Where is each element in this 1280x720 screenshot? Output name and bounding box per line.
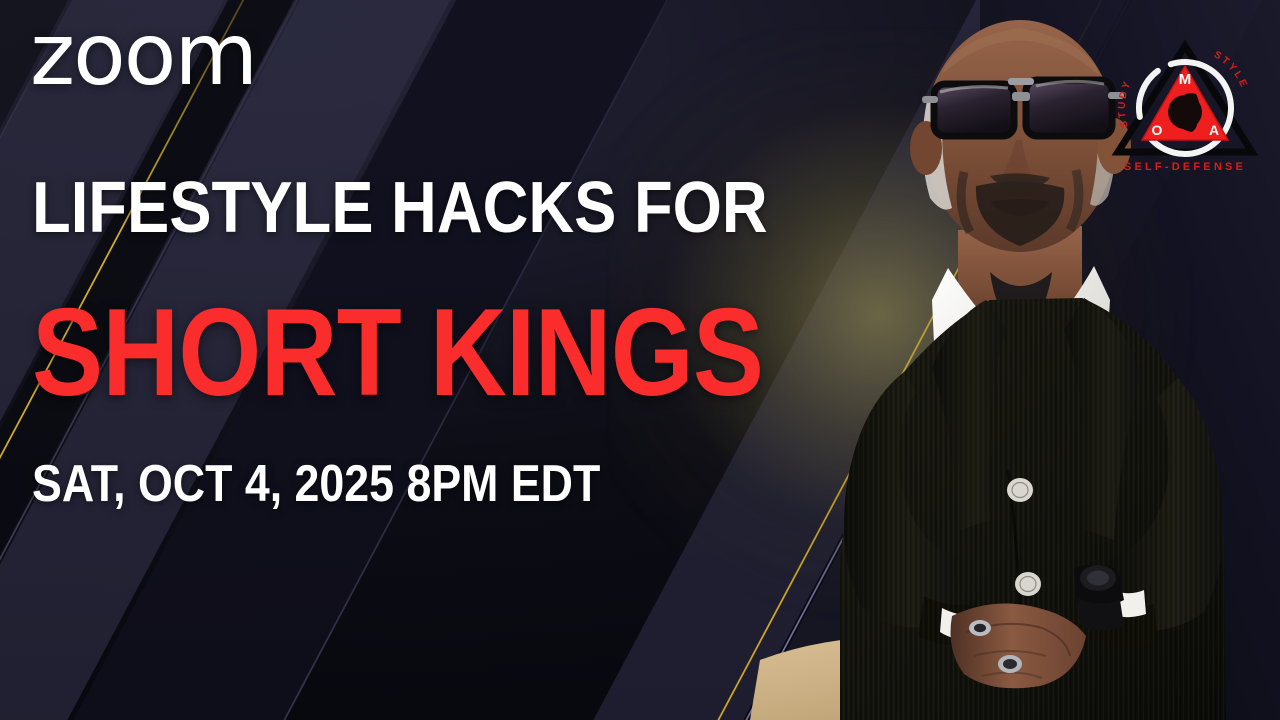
logo-tagline: SELF-DEFENSE [1124,161,1246,173]
headline-line-2: SHORT KINGS [32,299,617,408]
cardigan-button [1015,572,1041,596]
logo-arc-text-left: STUDY [1117,78,1134,129]
moa-self-defense-logo[interactable]: M O A STUDY STYLE SELF-DEFENSE [1104,20,1266,186]
event-datetime: SAT, OCT 4, 2025 8PM EDT [32,458,617,510]
logo-letter-o: O [1152,122,1163,138]
logo-letter-a: A [1209,122,1219,138]
cardigan-button [1007,478,1033,502]
promo-poster: zoom LIFESTYLE HACKS FOR SHORT KINGS SAT… [0,0,1280,720]
headline-line-1: LIFESTYLE HACKS FOR [32,175,630,241]
logo-arc-text-right: STYLE [1212,49,1250,91]
logo-letter-m: M [1179,71,1192,88]
headline-block: LIFESTYLE HACKS FOR SHORT KINGS SAT, OCT… [32,175,712,510]
zoom-wordmark[interactable]: zoom [30,12,256,98]
